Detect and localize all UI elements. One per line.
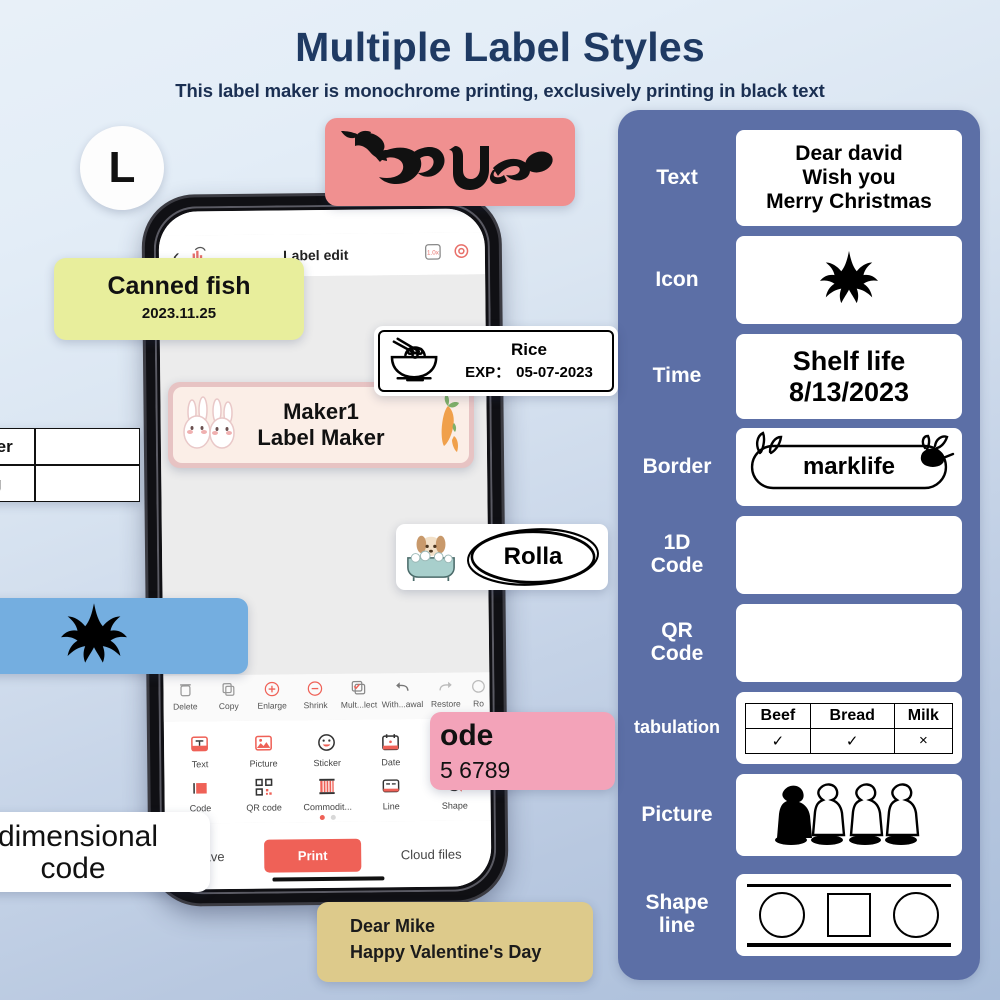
grid-label: Line xyxy=(359,801,423,812)
panel-row-shape-line: Shapeline xyxy=(618,874,980,956)
text-line-2: Wish you xyxy=(766,166,932,190)
label-sample-rolla: Rolla xyxy=(396,524,608,590)
multi-select-icon xyxy=(337,675,381,699)
label-sample-dragon-2024 xyxy=(325,118,575,206)
rice-title: Rice xyxy=(452,340,606,360)
people-clipart-icon xyxy=(769,780,929,851)
dragon-calligraphy-icon xyxy=(337,124,563,201)
row-preview-time[interactable]: Shelf life 8/13/2023 xyxy=(736,334,962,419)
twodim-line-1: -dimensional xyxy=(0,821,210,853)
table-value-cell: ✓ xyxy=(810,728,894,753)
row-preview-picture[interactable] xyxy=(736,774,962,856)
page-title: Multiple Label Styles xyxy=(0,26,1000,69)
table-value-cell: ✓ xyxy=(746,728,811,753)
row-label-qr-code: QRCode xyxy=(618,620,736,665)
table-row: Beef Bread Milk xyxy=(746,703,953,728)
calendar-icon xyxy=(359,728,423,755)
grid-label: Commodit... xyxy=(296,802,360,813)
print-button[interactable]: Print xyxy=(264,838,362,872)
toolbar-item-enlarge[interactable]: Enlarge xyxy=(250,676,294,710)
maker-line-1: Maker1 xyxy=(257,399,384,425)
circle-shape-icon xyxy=(759,892,805,938)
toolbar-item-withdrawal[interactable]: With...awal xyxy=(380,675,424,709)
row-label-time: Time xyxy=(618,365,736,388)
row-label-1d-code: 1DCode xyxy=(618,532,736,577)
label-sample-powder-table: powder 120g xyxy=(0,428,140,502)
time-line-1: Shelf life xyxy=(789,346,909,377)
toolbar-label: Ro xyxy=(468,698,490,708)
row-label-border: Border xyxy=(618,456,736,479)
grid-item-qr-code[interactable]: QR code xyxy=(232,768,296,813)
table-header-cell: Milk xyxy=(894,703,952,728)
picture-icon xyxy=(231,729,295,756)
grid-label: Date xyxy=(359,757,423,768)
table-value-cell: × xyxy=(894,728,952,753)
rotate-icon xyxy=(467,674,489,698)
barcode-icon xyxy=(168,774,232,801)
shape-line-art xyxy=(747,884,950,947)
row-preview-shape-line[interactable] xyxy=(736,874,962,956)
page-header: Multiple Label Styles This label maker i… xyxy=(0,26,1000,102)
row-preview-qr-code[interactable] xyxy=(736,604,962,682)
grid-label: QR code xyxy=(232,802,296,813)
canned-fish-title: Canned fish xyxy=(54,272,304,301)
circle-shape-icon xyxy=(893,892,939,938)
toolbar-label: Shrink xyxy=(294,700,338,710)
sticker-icon xyxy=(295,729,359,756)
grid-label: Shape xyxy=(423,800,487,811)
panel-row-1d-code: 1DCode xyxy=(618,516,980,594)
page-dot-active[interactable] xyxy=(320,815,325,820)
label-sample-valentine: Dear Mike Happy Valentine's Day xyxy=(317,902,593,982)
zoom-1x-icon[interactable]: 1.0x xyxy=(424,242,442,265)
commodity-icon xyxy=(296,773,360,800)
powder-cell-1: powder xyxy=(0,428,35,465)
label-sample-two-dimensional-code: -dimensional code xyxy=(0,812,210,892)
grid-item-code[interactable]: Code xyxy=(168,769,232,814)
grid-label: Text xyxy=(168,759,232,770)
panel-row-time: Time Shelf life 8/13/2023 xyxy=(618,334,980,419)
table-header-cell: Bread xyxy=(810,703,894,728)
powder-cell-3: 120g xyxy=(0,465,35,502)
table-row: ✓ ✓ × xyxy=(746,728,953,753)
holly-leaf-icon xyxy=(818,249,880,312)
dog-bath-icon xyxy=(402,529,460,586)
status-bar xyxy=(158,208,484,235)
tabulation-table: Beef Bread Milk ✓ ✓ × xyxy=(745,703,953,754)
toolbar-label: Delete xyxy=(164,701,208,711)
toolbar-label: Enlarge xyxy=(250,700,294,710)
svg-text:1.0x: 1.0x xyxy=(427,249,440,256)
page-subtitle: This label maker is monochrome printing,… xyxy=(0,80,1000,102)
time-line-2: 8/13/2023 xyxy=(789,377,909,408)
panel-row-picture: Picture xyxy=(618,774,980,856)
pink-code-line-2: 5 6789 xyxy=(440,757,615,784)
rolla-text: Rolla xyxy=(464,524,602,590)
label-sample-rice: Rice EXP：05-07-2023 xyxy=(374,326,618,396)
bunny-head-right-icon xyxy=(916,434,956,479)
grid-item-commodity[interactable]: Commodit... xyxy=(295,768,359,813)
undo-icon xyxy=(380,675,424,699)
grid-label: Picture xyxy=(232,758,296,769)
plus-circle-icon xyxy=(250,676,294,700)
row-label-shape-line: Shapeline xyxy=(618,892,736,937)
valentine-line-1: Dear Mike xyxy=(350,916,593,937)
grid-item-date[interactable]: Date xyxy=(359,723,423,768)
row-preview-tabulation[interactable]: Beef Bread Milk ✓ ✓ × xyxy=(736,692,962,764)
canned-fish-date: 2023.11.25 xyxy=(54,305,304,322)
toolbar-item-shrink[interactable]: Shrink xyxy=(294,676,338,710)
maker-line-2: Label Maker xyxy=(257,425,384,451)
toolbar-item-delete[interactable]: Delete xyxy=(163,677,207,711)
label-sample-canned-fish: Canned fish 2023.11.25 xyxy=(54,258,304,340)
size-badge-l: L xyxy=(80,126,164,210)
toolbar-label: With...awal xyxy=(381,699,425,709)
qr-code-icon xyxy=(232,773,296,800)
gear-icon[interactable] xyxy=(452,241,471,265)
toolbar-item-multi-select[interactable]: Mult...lect xyxy=(337,675,381,709)
row-preview-border[interactable]: marklife xyxy=(736,428,962,506)
row-preview-text[interactable]: Dear david Wish you Merry Christmas xyxy=(736,130,962,226)
redo-icon xyxy=(424,675,468,699)
grid-item-text[interactable]: Text xyxy=(168,725,232,770)
copy-icon xyxy=(207,677,251,701)
row-label-tabulation: tabulation xyxy=(618,718,736,737)
row-label-picture: Picture xyxy=(618,804,736,827)
valentine-line-2: Happy Valentine's Day xyxy=(350,942,593,963)
panel-row-tabulation: tabulation Beef Bread Milk ✓ ✓ × xyxy=(618,692,980,764)
toolbar-label: Mult...lect xyxy=(337,699,381,709)
row-label-icon: Icon xyxy=(618,269,736,292)
powder-cell-4 xyxy=(35,465,140,502)
bunny-ears-left-icon xyxy=(752,431,786,460)
row-preview-icon[interactable] xyxy=(736,236,962,324)
rice-exp: EXP：05-07-2023 xyxy=(452,361,606,382)
pink-code-line-1: ode xyxy=(440,721,615,751)
powder-cell-2 xyxy=(35,428,140,465)
twodim-line-2: code xyxy=(0,853,210,885)
rice-bowl-icon xyxy=(386,334,446,389)
table-header-cell: Beef xyxy=(746,703,811,728)
toolbar-label: Copy xyxy=(207,701,251,711)
grid-item-line[interactable]: Line xyxy=(359,767,423,812)
toolbar-label: Restore xyxy=(424,699,468,709)
text-icon xyxy=(168,730,232,757)
label-styles-panel: Text Dear david Wish you Merry Christmas… xyxy=(618,110,980,980)
trash-icon xyxy=(163,677,207,701)
cloud-files-button[interactable]: Cloud files xyxy=(401,846,462,862)
border-text: marklife xyxy=(803,453,895,480)
page-dot[interactable] xyxy=(331,815,336,820)
panel-row-border: Border marklife xyxy=(618,428,980,506)
toolbar-item-restore[interactable]: Restore xyxy=(424,675,468,709)
rolla-ellipse-frame: Rolla xyxy=(464,524,602,590)
row-preview-1d-code[interactable] xyxy=(736,516,962,594)
toolbar-item-rotate[interactable]: Ro xyxy=(467,674,489,708)
text-line-3: Merry Christmas xyxy=(766,190,932,214)
carrot-icon xyxy=(436,392,462,459)
label-sample-pink-code: ode 5 6789 xyxy=(430,712,615,790)
text-line-1: Dear david xyxy=(766,142,932,166)
panel-row-text: Text Dear david Wish you Merry Christmas xyxy=(618,130,980,226)
holly-leaf-icon xyxy=(57,601,131,672)
line-icon xyxy=(359,772,423,799)
square-shape-icon xyxy=(827,893,871,937)
minus-circle-icon xyxy=(294,676,338,700)
label-sample-holly-blue xyxy=(0,598,248,674)
toolbar-item-copy[interactable]: Copy xyxy=(207,677,251,711)
bottom-rule xyxy=(747,943,950,947)
grid-item-picture[interactable]: Picture xyxy=(231,724,295,769)
panel-row-qr-code: QRCode xyxy=(618,604,980,682)
row-label-text: Text xyxy=(618,167,736,190)
bunnies-icon xyxy=(179,394,241,461)
panel-row-icon: Icon xyxy=(618,236,980,324)
grid-label: Sticker xyxy=(295,758,359,769)
grid-item-sticker[interactable]: Sticker xyxy=(295,724,359,769)
